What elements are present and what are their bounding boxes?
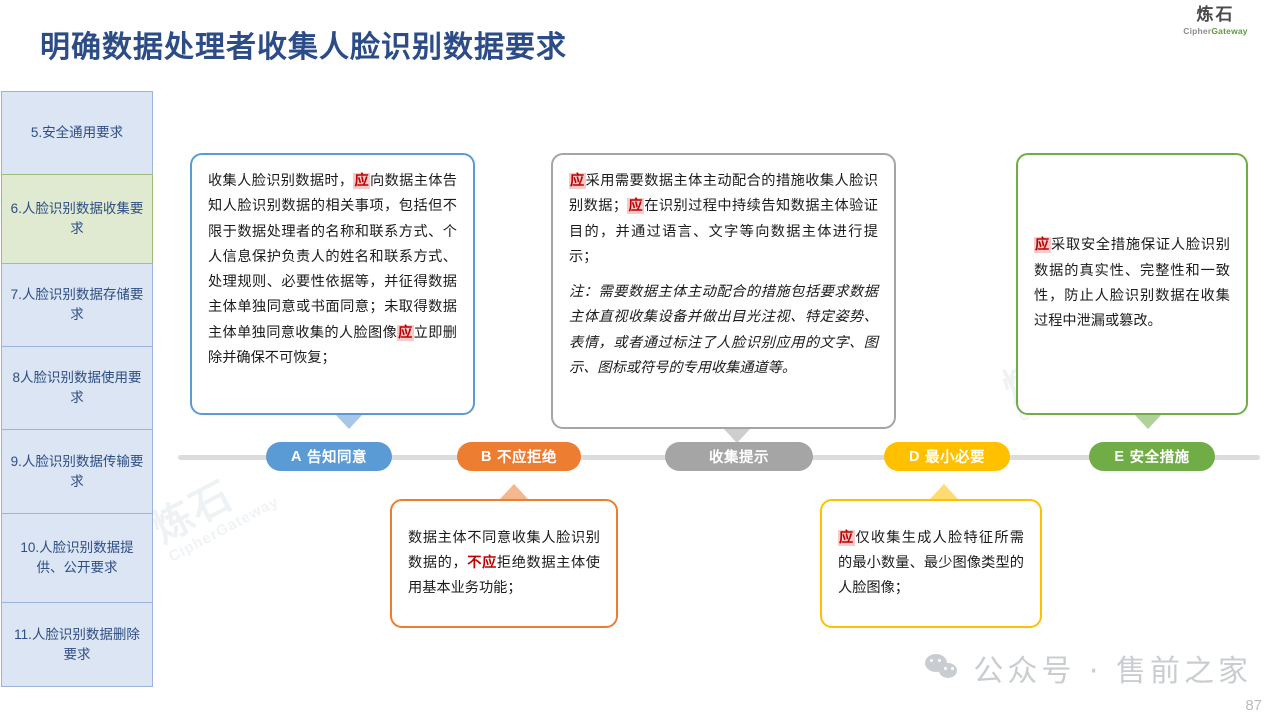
slide-root: 炼石 CipherGateway 炼石 CipherGateway 炼石 Cip… [0, 0, 1280, 720]
sidebar-nav: 5.安全通用要求6.人脸识别数据收集要求7.人脸识别数据存储要求8人脸识别数据使… [1, 92, 153, 687]
card-a-notice-consent: 收集人脸识别数据时，应向数据主体告知人脸识别数据的相关事项，包括但不限于数据处理… [190, 153, 475, 415]
footer-text: 公众号 · 售前之家 [973, 646, 1252, 690]
card-b-no-refusal: 数据主体不同意收集人脸识别数据的，不应拒绝数据主体使用基本业务功能； [390, 499, 618, 628]
card-pointer-triangle [1134, 414, 1162, 429]
sidebar-item-label: 6.人脸识别数据收集要求 [8, 199, 146, 238]
card-paragraph: 应仅收集生成人脸特征所需的最小数量、最少图像类型的人脸图像； [838, 526, 1024, 602]
card-pointer-triangle [723, 428, 751, 443]
pill-label: 安全措施 [1130, 446, 1190, 467]
pill-label: 收集提示 [709, 446, 769, 467]
logo-en-text: CipherGateway [1163, 26, 1268, 36]
card-d-minimum-necessary: 应仅收集生成人脸特征所需的最小数量、最少图像类型的人脸图像； [820, 499, 1042, 628]
pill-letter: D [909, 449, 920, 465]
timeline-pill-c[interactable]: 收集提示 [665, 442, 813, 471]
timeline-pill-d[interactable]: D最小必要 [884, 442, 1010, 471]
logo-cn-text: 炼石 [1163, 6, 1268, 25]
sidebar-item-1[interactable]: 5.安全通用要求 [1, 91, 153, 175]
emphasis-token: 应 [838, 530, 855, 546]
watermark-cn: 炼石 [140, 445, 275, 554]
card-paragraph: 收集人脸识别数据时，应向数据主体告知人脸识别数据的相关事项，包括但不限于数据处理… [208, 169, 457, 371]
emphasis-token: 应 [1034, 237, 1051, 253]
pill-label: 不应拒绝 [497, 446, 557, 467]
pill-letter: E [1114, 449, 1124, 465]
sidebar-item-3[interactable]: 7.人脸识别数据存储要求 [1, 263, 153, 347]
sidebar-item-label: 7.人脸识别数据存储要求 [8, 285, 146, 324]
pill-label: 最小必要 [925, 446, 985, 467]
emphasis-token: 应 [627, 198, 644, 214]
emphasis-token: 不应 [467, 555, 497, 571]
logo-en-part-b: Gateway [1211, 26, 1247, 36]
emphasis-token: 应 [353, 173, 370, 189]
pill-letter: A [291, 449, 302, 465]
page-title: 明确数据处理者收集人脸识别数据要求 [40, 22, 567, 66]
sidebar-item-label: 11.人脸识别数据删除要求 [8, 625, 146, 664]
emphasis-token: 应 [569, 173, 586, 189]
sidebar-item-2[interactable]: 6.人脸识别数据收集要求 [1, 174, 153, 264]
card-text: 仅收集生成人脸特征所需的最小数量、最少图像类型的人脸图像； [838, 530, 1024, 597]
pill-label: 告知同意 [307, 446, 367, 467]
card-text: 收集人脸识别数据时， [208, 173, 353, 189]
footer-watermark: 公众号 · 售前之家 [925, 646, 1252, 690]
sidebar-item-label: 8人脸识别数据使用要求 [8, 368, 146, 407]
timeline-pill-b[interactable]: B不应拒绝 [457, 442, 581, 471]
pill-letter: B [481, 449, 492, 465]
wechat-icon [925, 654, 961, 682]
logo-en-part-a: Cipher [1183, 26, 1211, 36]
card-text: 向数据主体告知人脸识别数据的相关事项，包括但不限于数据处理者的名称和联系方式、个… [208, 173, 457, 341]
card-pointer-triangle [500, 484, 528, 499]
timeline-pill-e[interactable]: E安全措施 [1089, 442, 1215, 471]
card-paragraph: 应采取安全措施保证人脸识别数据的真实性、完整性和一致性，防止人脸识别数据在收集过… [1034, 233, 1230, 334]
card-paragraph: 数据主体不同意收集人脸识别数据的，不应拒绝数据主体使用基本业务功能； [408, 526, 600, 602]
emphasis-token: 应 [397, 325, 414, 341]
card-paragraph: 应采用需要数据主体主动配合的措施收集人脸识别数据；应在识别过程中持续告知数据主体… [569, 169, 878, 270]
sidebar-item-7[interactable]: 11.人脸识别数据删除要求 [1, 602, 153, 687]
sidebar-item-4[interactable]: 8人脸识别数据使用要求 [1, 346, 153, 430]
timeline-pill-a[interactable]: A告知同意 [266, 442, 392, 471]
brand-logo: 炼石 CipherGateway [1163, 6, 1268, 36]
sidebar-item-6[interactable]: 10.人脸识别数据提供、公开要求 [1, 513, 153, 603]
card-note: 注：需要数据主体主动配合的措施包括要求数据主体直视收集设备并做出目光注视、特定姿… [569, 284, 878, 376]
card-e-security-measures: 应采取安全措施保证人脸识别数据的真实性、完整性和一致性，防止人脸识别数据在收集过… [1016, 153, 1248, 415]
sidebar-item-label: 10.人脸识别数据提供、公开要求 [8, 538, 146, 577]
watermark-en: CipherGateway [166, 493, 282, 565]
card-pointer-triangle [930, 484, 958, 499]
page-number: 87 [1245, 697, 1262, 714]
card-c-collection-prompt: 应采用需要数据主体主动配合的措施收集人脸识别数据；应在识别过程中持续告知数据主体… [551, 153, 896, 429]
card-text: 采取安全措施保证人脸识别数据的真实性、完整性和一致性，防止人脸识别数据在收集过程… [1034, 237, 1230, 329]
card-paragraph: 注：需要数据主体主动配合的措施包括要求数据主体直视收集设备并做出目光注视、特定姿… [569, 280, 878, 381]
card-pointer-triangle [335, 414, 363, 429]
sidebar-item-label: 9.人脸识别数据传输要求 [8, 452, 146, 491]
sidebar-item-5[interactable]: 9.人脸识别数据传输要求 [1, 429, 153, 514]
background-watermark: 炼石 CipherGateway [140, 445, 281, 565]
sidebar-item-label: 5.安全通用要求 [31, 123, 123, 143]
